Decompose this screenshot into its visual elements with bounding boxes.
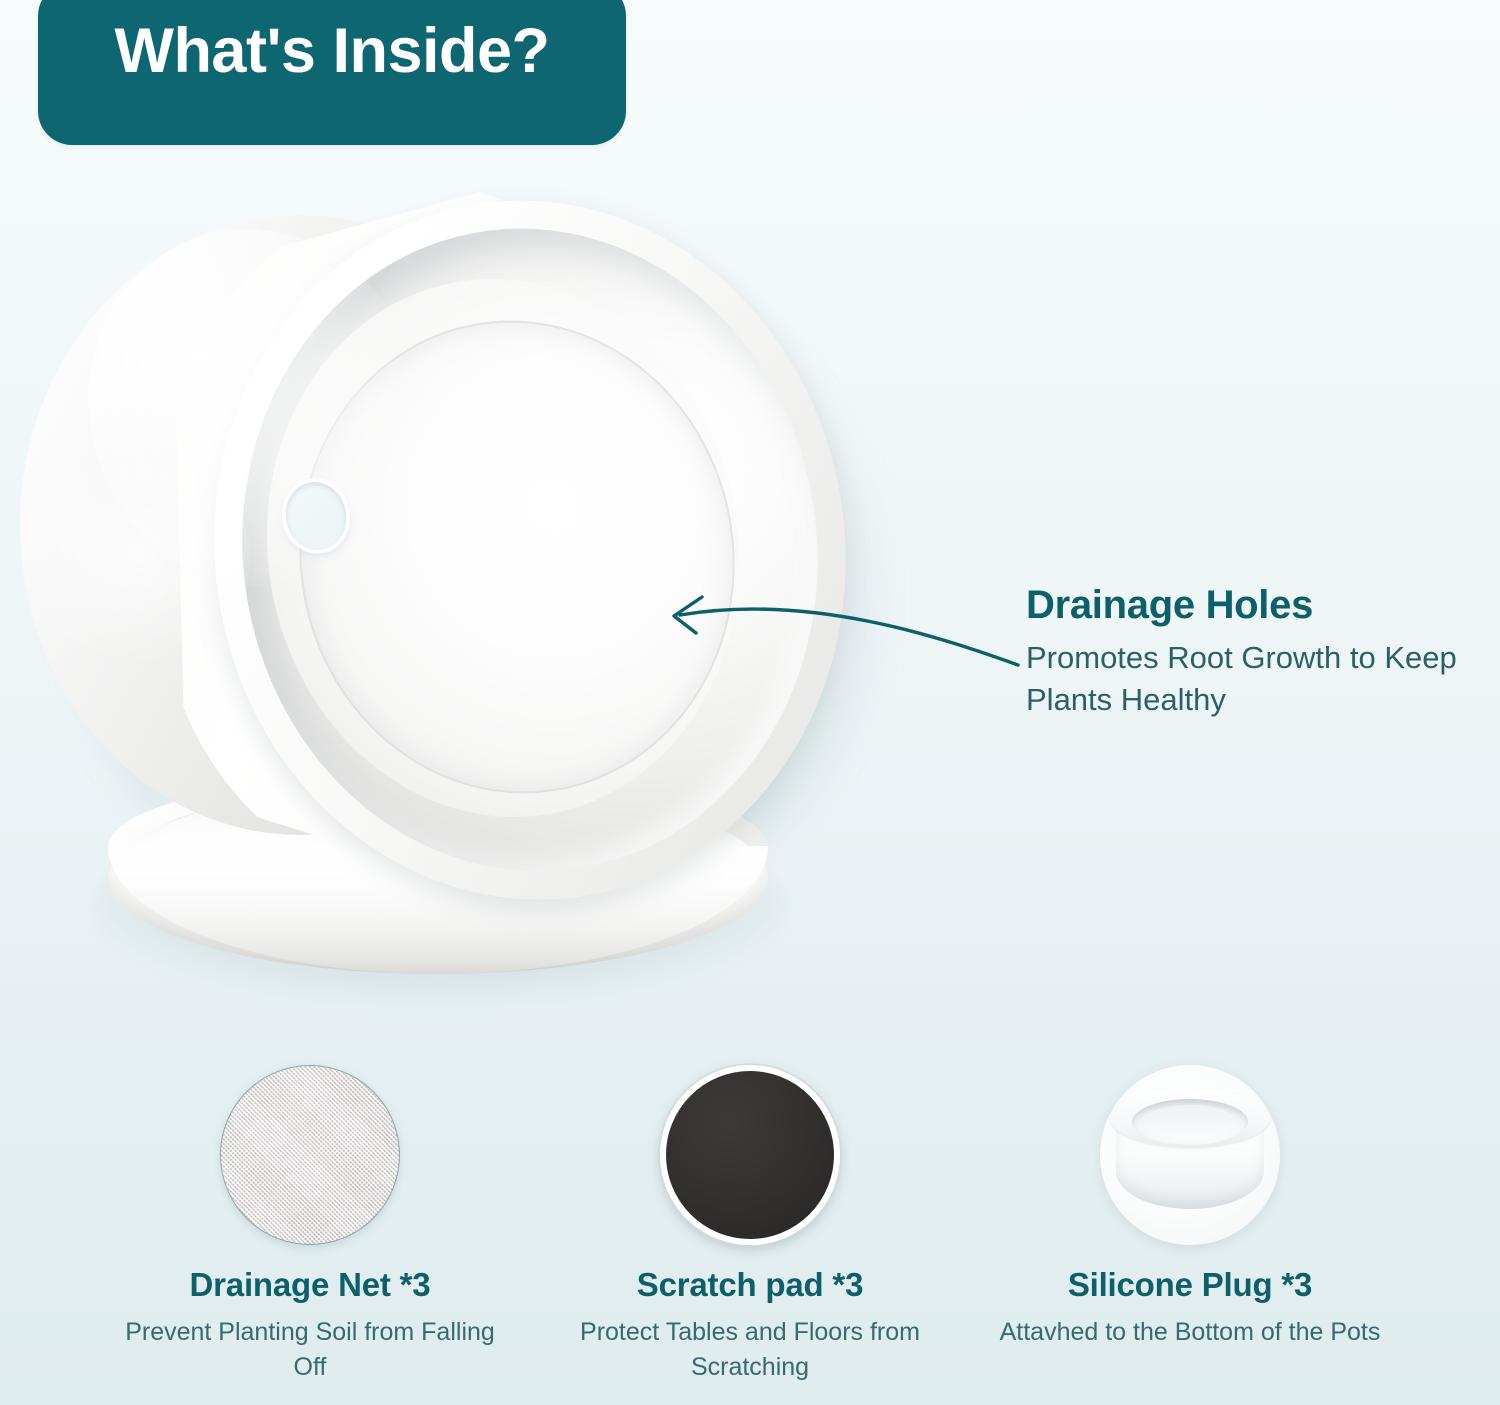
feature-silicone-plug: Silicone Plug *3 Attavhed to the Bottom … <box>990 1065 1390 1384</box>
callout-description: Promotes Root Growth to Keep Plants Heal… <box>1026 637 1466 721</box>
drainage-net-icon <box>220 1065 400 1245</box>
feature-drainage-net: Drainage Net *3 Prevent Planting Soil fr… <box>110 1065 510 1384</box>
feature-description: Attavhed to the Bottom of the Pots <box>1000 1315 1381 1350</box>
feature-description: Prevent Planting Soil from Falling Off <box>110 1315 510 1384</box>
whats-inside-badge: What's Inside? <box>38 0 626 145</box>
scratch-pad-icon <box>660 1065 840 1245</box>
feature-title: Drainage Net *3 <box>190 1267 431 1303</box>
drainage-holes-callout: Drainage Holes Promotes Root Growth to K… <box>1026 583 1466 721</box>
plug-cavity-inner <box>1144 1105 1236 1139</box>
page-title: What's Inside? <box>38 20 626 83</box>
included-accessories-row: Drainage Net *3 Prevent Planting Soil fr… <box>0 1065 1500 1384</box>
infographic-page: What's Inside? Drainage Holes Promotes R… <box>0 0 1500 1405</box>
feature-title: Scratch pad *3 <box>637 1267 863 1303</box>
silicone-plug-icon <box>1100 1065 1280 1245</box>
curved-arrow-left-icon <box>640 575 1060 695</box>
feature-title: Silicone Plug *3 <box>1068 1267 1312 1303</box>
callout-title: Drainage Holes <box>1026 583 1466 627</box>
feature-description: Protect Tables and Floors from Scratchin… <box>550 1315 950 1384</box>
scratch-pad-thumbnail <box>660 1065 840 1245</box>
drainage-net-thumbnail <box>220 1065 400 1245</box>
feature-scratch-pad: Scratch pad *3 Protect Tables and Floors… <box>550 1065 950 1384</box>
silicone-plug-thumbnail <box>1100 1065 1280 1245</box>
